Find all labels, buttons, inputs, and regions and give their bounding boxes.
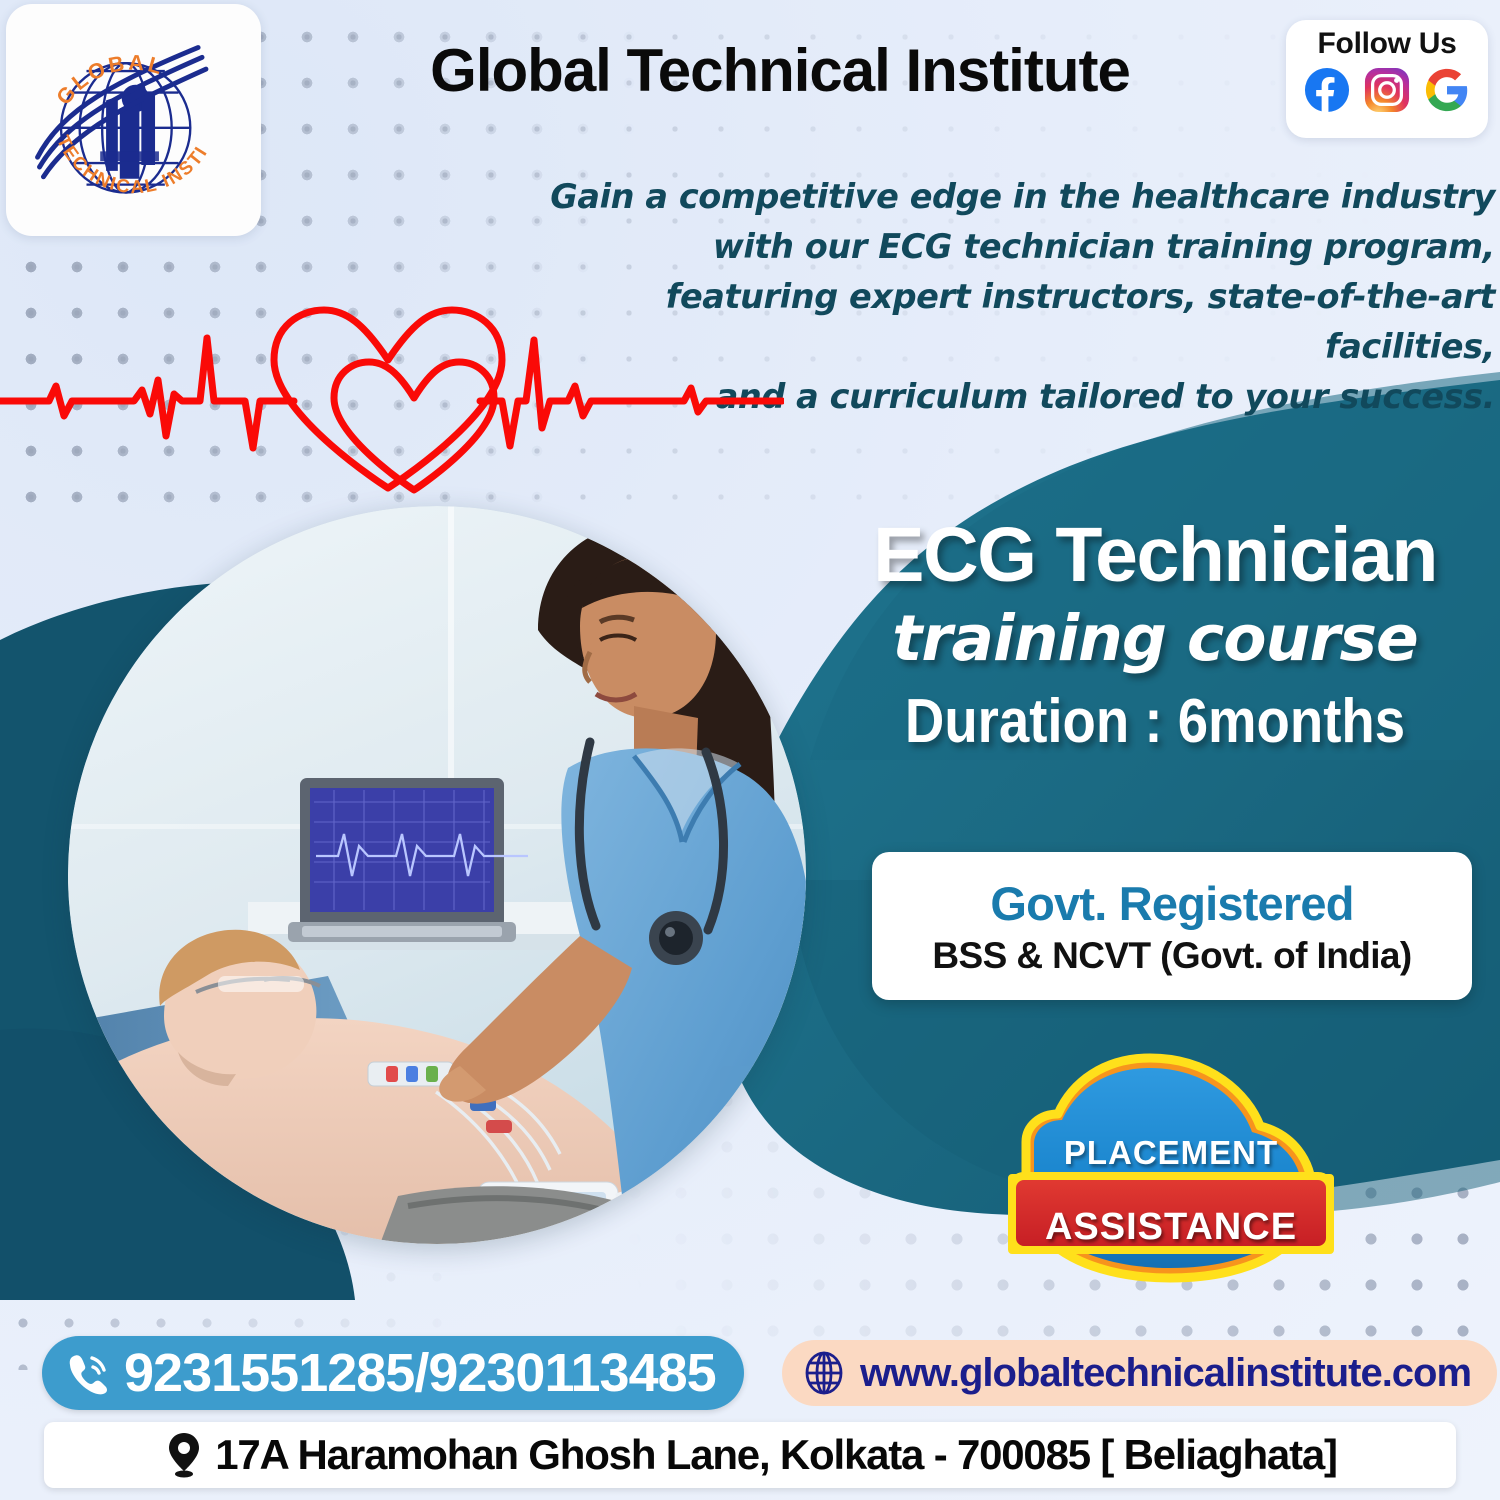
course-duration: Duration : 6months bbox=[860, 680, 1450, 764]
address-text: 17A Haramohan Ghosh Lane, Kolkata - 7000… bbox=[215, 1431, 1337, 1479]
intro-line-2: with our ECG technician training program… bbox=[495, 222, 1495, 272]
phone-number: 9231551285/9230113485 bbox=[124, 1342, 716, 1404]
placement-assistance-badge: PLACEMENT ASSISTANCE bbox=[1000, 1042, 1342, 1292]
intro-line-1: Gain a competitive edge in the healthcar… bbox=[495, 172, 1495, 222]
follow-us-card: Follow Us bbox=[1286, 20, 1488, 138]
follow-us-label: Follow Us bbox=[1318, 27, 1457, 61]
govt-registered-headline: Govt. Registered bbox=[990, 876, 1353, 931]
instagram-icon[interactable] bbox=[1364, 67, 1410, 113]
phone-pill[interactable]: 9231551285/9230113485 bbox=[42, 1336, 744, 1410]
website-pill[interactable]: www.globaltechnicalinstitute.com bbox=[782, 1340, 1497, 1406]
address-bar: 17A Haramohan Ghosh Lane, Kolkata - 7000… bbox=[44, 1422, 1456, 1488]
phone-call-icon bbox=[62, 1347, 114, 1399]
institute-logo-card: GLOBAL TECHNICAL INSTITUTE bbox=[6, 4, 261, 236]
location-pin-icon bbox=[163, 1431, 205, 1479]
globe-icon bbox=[800, 1349, 848, 1397]
govt-registered-card: Govt. Registered BSS & NCVT (Govt. of In… bbox=[872, 852, 1472, 1000]
badge-bottom-label: ASSISTANCE bbox=[1000, 1206, 1342, 1249]
website-url: www.globaltechnicalinstitute.com bbox=[860, 1351, 1471, 1396]
social-icon-row bbox=[1304, 67, 1470, 113]
course-heading-block: ECG Technician training course Duration … bbox=[820, 512, 1490, 764]
ecg-heartbeat-icon bbox=[0, 298, 784, 498]
facebook-icon[interactable] bbox=[1304, 67, 1350, 113]
course-title: ECG Technician bbox=[820, 512, 1490, 598]
badge-top-label: PLACEMENT bbox=[1000, 1134, 1342, 1172]
global-technical-institute-logo: GLOBAL TECHNICAL INSTITUTE bbox=[16, 14, 251, 226]
ecg-technician-with-patient-photo bbox=[68, 506, 806, 1244]
poster-canvas: GLOBAL TECHNICAL INSTITUTE Global Techni… bbox=[0, 0, 1500, 1500]
google-icon[interactable] bbox=[1424, 67, 1470, 113]
course-subtitle: training course bbox=[820, 598, 1490, 680]
page-title: Global Technical Institute bbox=[330, 36, 1230, 105]
govt-registered-subline: BSS & NCVT (Govt. of India) bbox=[932, 935, 1411, 977]
ecg-technician-photo bbox=[68, 506, 806, 1244]
